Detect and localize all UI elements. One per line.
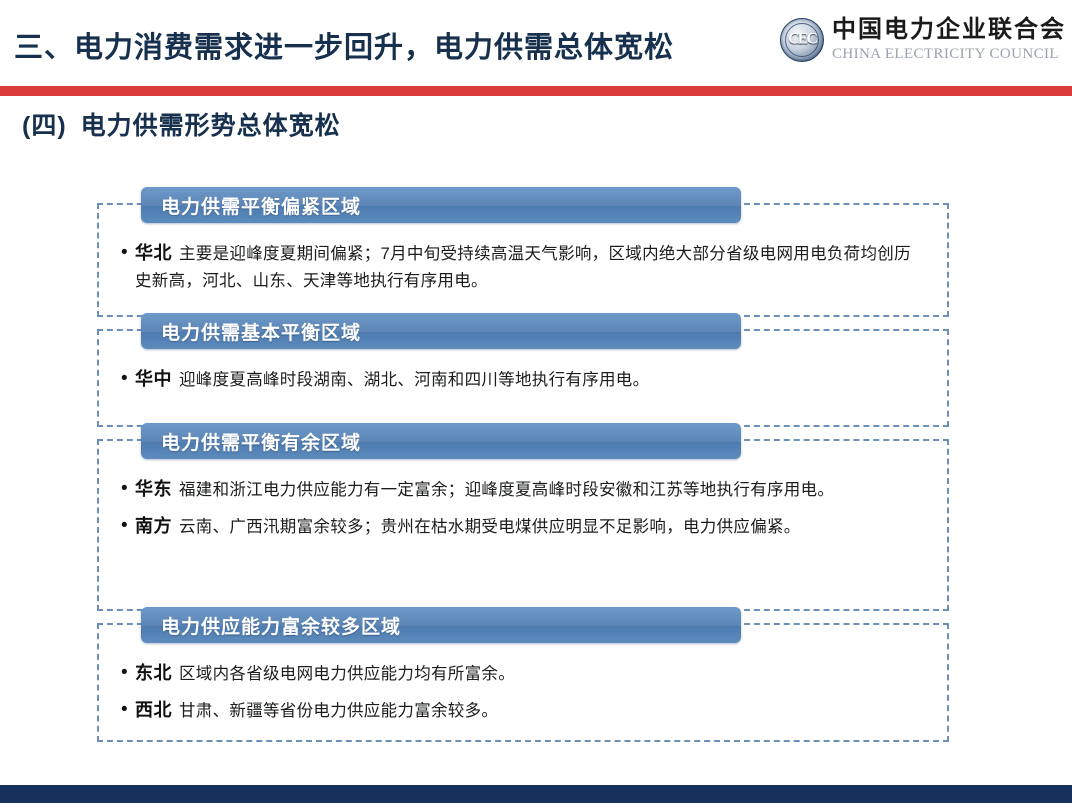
seal-monogram: CEC (781, 31, 823, 49)
region-label: 华中 (135, 369, 172, 389)
panel-surplus-balance: 电力供需平衡有余区域 • 华东福建和浙江电力供应能力有一定富余；迎峰度夏高峰时段… (97, 439, 949, 611)
bullet-dot-icon: • (121, 365, 135, 393)
region-label: 华北 (135, 243, 172, 263)
section-title-text: 电力供需形势总体宽松 (81, 112, 341, 140)
region-description: 迎峰度夏高峰时段湖南、湖北、河南和四川等地执行有序用电。 (179, 371, 649, 389)
region-description: 福建和浙江电力供应能力有一定富余；迎峰度夏高峰时段安徽和江苏等地执行有序用电。 (179, 481, 834, 499)
region-label: 西北 (135, 700, 172, 720)
panel-header-bar: 电力供需平衡有余区域 (141, 423, 741, 459)
region-description: 主要是迎峰度夏期间偏紧；7月中旬受持续高温天气影响，区域内绝大部分省级电网用电负… (135, 245, 911, 290)
slide-header: 三、电力消费需求进一步回升，电力供需总体宽松 CEC 中国电力企业联合会 CHI… (0, 0, 1072, 86)
list-item: • 华中迎峰度夏高峰时段湖南、湖北、河南和四川等地执行有序用电。 (121, 365, 925, 394)
list-item-content: 西北甘肃、新疆等省份电力供应能力富余较多。 (135, 696, 925, 725)
section-heading: (四)电力供需形势总体宽松 (22, 106, 341, 142)
panel-heading-label: 电力供应能力富余较多区域 (161, 612, 401, 639)
list-item-content: 华中迎峰度夏高峰时段湖南、湖北、河南和四川等地执行有序用电。 (135, 365, 925, 394)
bullet-dot-icon: • (121, 696, 135, 724)
page-title: 三、电力消费需求进一步回升，电力供需总体宽松 (14, 24, 674, 66)
panel-heading-label: 电力供需平衡偏紧区域 (161, 192, 361, 219)
region-label: 南方 (135, 516, 172, 536)
cec-seal-icon: CEC (780, 18, 824, 62)
panel-header-bar: 电力供需平衡偏紧区域 (141, 187, 741, 223)
panel-heading-label: 电力供需平衡有余区域 (161, 428, 361, 455)
section-number: (四) (22, 112, 67, 140)
brand-name-cn: 中国电力企业联合会 (832, 18, 1066, 42)
list-item-content: 华东福建和浙江电力供应能力有一定富余；迎峰度夏高峰时段安徽和江苏等地执行有序用电… (135, 475, 925, 504)
panel-header-bar: 电力供应能力富余较多区域 (141, 607, 741, 643)
list-item-content: 华北主要是迎峰度夏期间偏紧；7月中旬受持续高温天气影响，区域内绝大部分省级电网用… (135, 239, 925, 295)
list-item-content: 南方云南、广西汛期富余较多；贵州在枯水期受电煤供应明显不足影响，电力供应偏紧。 (135, 512, 925, 541)
panel-header-bar: 电力供需基本平衡区域 (141, 313, 741, 349)
footer-bar (0, 785, 1072, 803)
list-item: • 华北主要是迎峰度夏期间偏紧；7月中旬受持续高温天气影响，区域内绝大部分省级电… (121, 239, 925, 295)
region-label: 东北 (135, 663, 172, 683)
bullet-dot-icon: • (121, 239, 135, 267)
panel-list: 电力供需平衡偏紧区域 • 华北主要是迎峰度夏期间偏紧；7月中旬受持续高温天气影响… (97, 203, 949, 742)
region-label: 华东 (135, 479, 172, 499)
region-description: 甘肃、新疆等省份电力供应能力富余较多。 (179, 702, 498, 720)
region-description: 云南、广西汛期富余较多；贵州在枯水期受电煤供应明显不足影响，电力供应偏紧。 (179, 518, 801, 536)
brand-name-en: CHINA ELECTRICITY COUNCIL (832, 47, 1066, 62)
list-item: • 西北甘肃、新疆等省份电力供应能力富余较多。 (121, 696, 925, 725)
list-item: • 华东福建和浙江电力供应能力有一定富余；迎峰度夏高峰时段安徽和江苏等地执行有序… (121, 475, 925, 504)
panel-basic-balance: 电力供需基本平衡区域 • 华中迎峰度夏高峰时段湖南、湖北、河南和四川等地执行有序… (97, 329, 949, 427)
bullet-dot-icon: • (121, 475, 135, 503)
list-item: • 东北区域内各省级电网电力供应能力均有所富余。 (121, 659, 925, 688)
list-item-content: 东北区域内各省级电网电力供应能力均有所富余。 (135, 659, 925, 688)
panel-high-surplus: 电力供应能力富余较多区域 • 东北区域内各省级电网电力供应能力均有所富余。 • … (97, 623, 949, 742)
brand-logo: CEC 中国电力企业联合会 CHINA ELECTRICITY COUNCIL (780, 18, 1066, 62)
brand-text: 中国电力企业联合会 CHINA ELECTRICITY COUNCIL (832, 18, 1066, 62)
bullet-dot-icon: • (121, 512, 135, 540)
region-description: 区域内各省级电网电力供应能力均有所富余。 (179, 665, 515, 683)
bullet-dot-icon: • (121, 659, 135, 687)
header-accent-rule (0, 86, 1072, 96)
panel-heading-label: 电力供需基本平衡区域 (161, 318, 361, 345)
panel-tight-balance: 电力供需平衡偏紧区域 • 华北主要是迎峰度夏期间偏紧；7月中旬受持续高温天气影响… (97, 203, 949, 317)
list-item: • 南方云南、广西汛期富余较多；贵州在枯水期受电煤供应明显不足影响，电力供应偏紧… (121, 512, 925, 541)
